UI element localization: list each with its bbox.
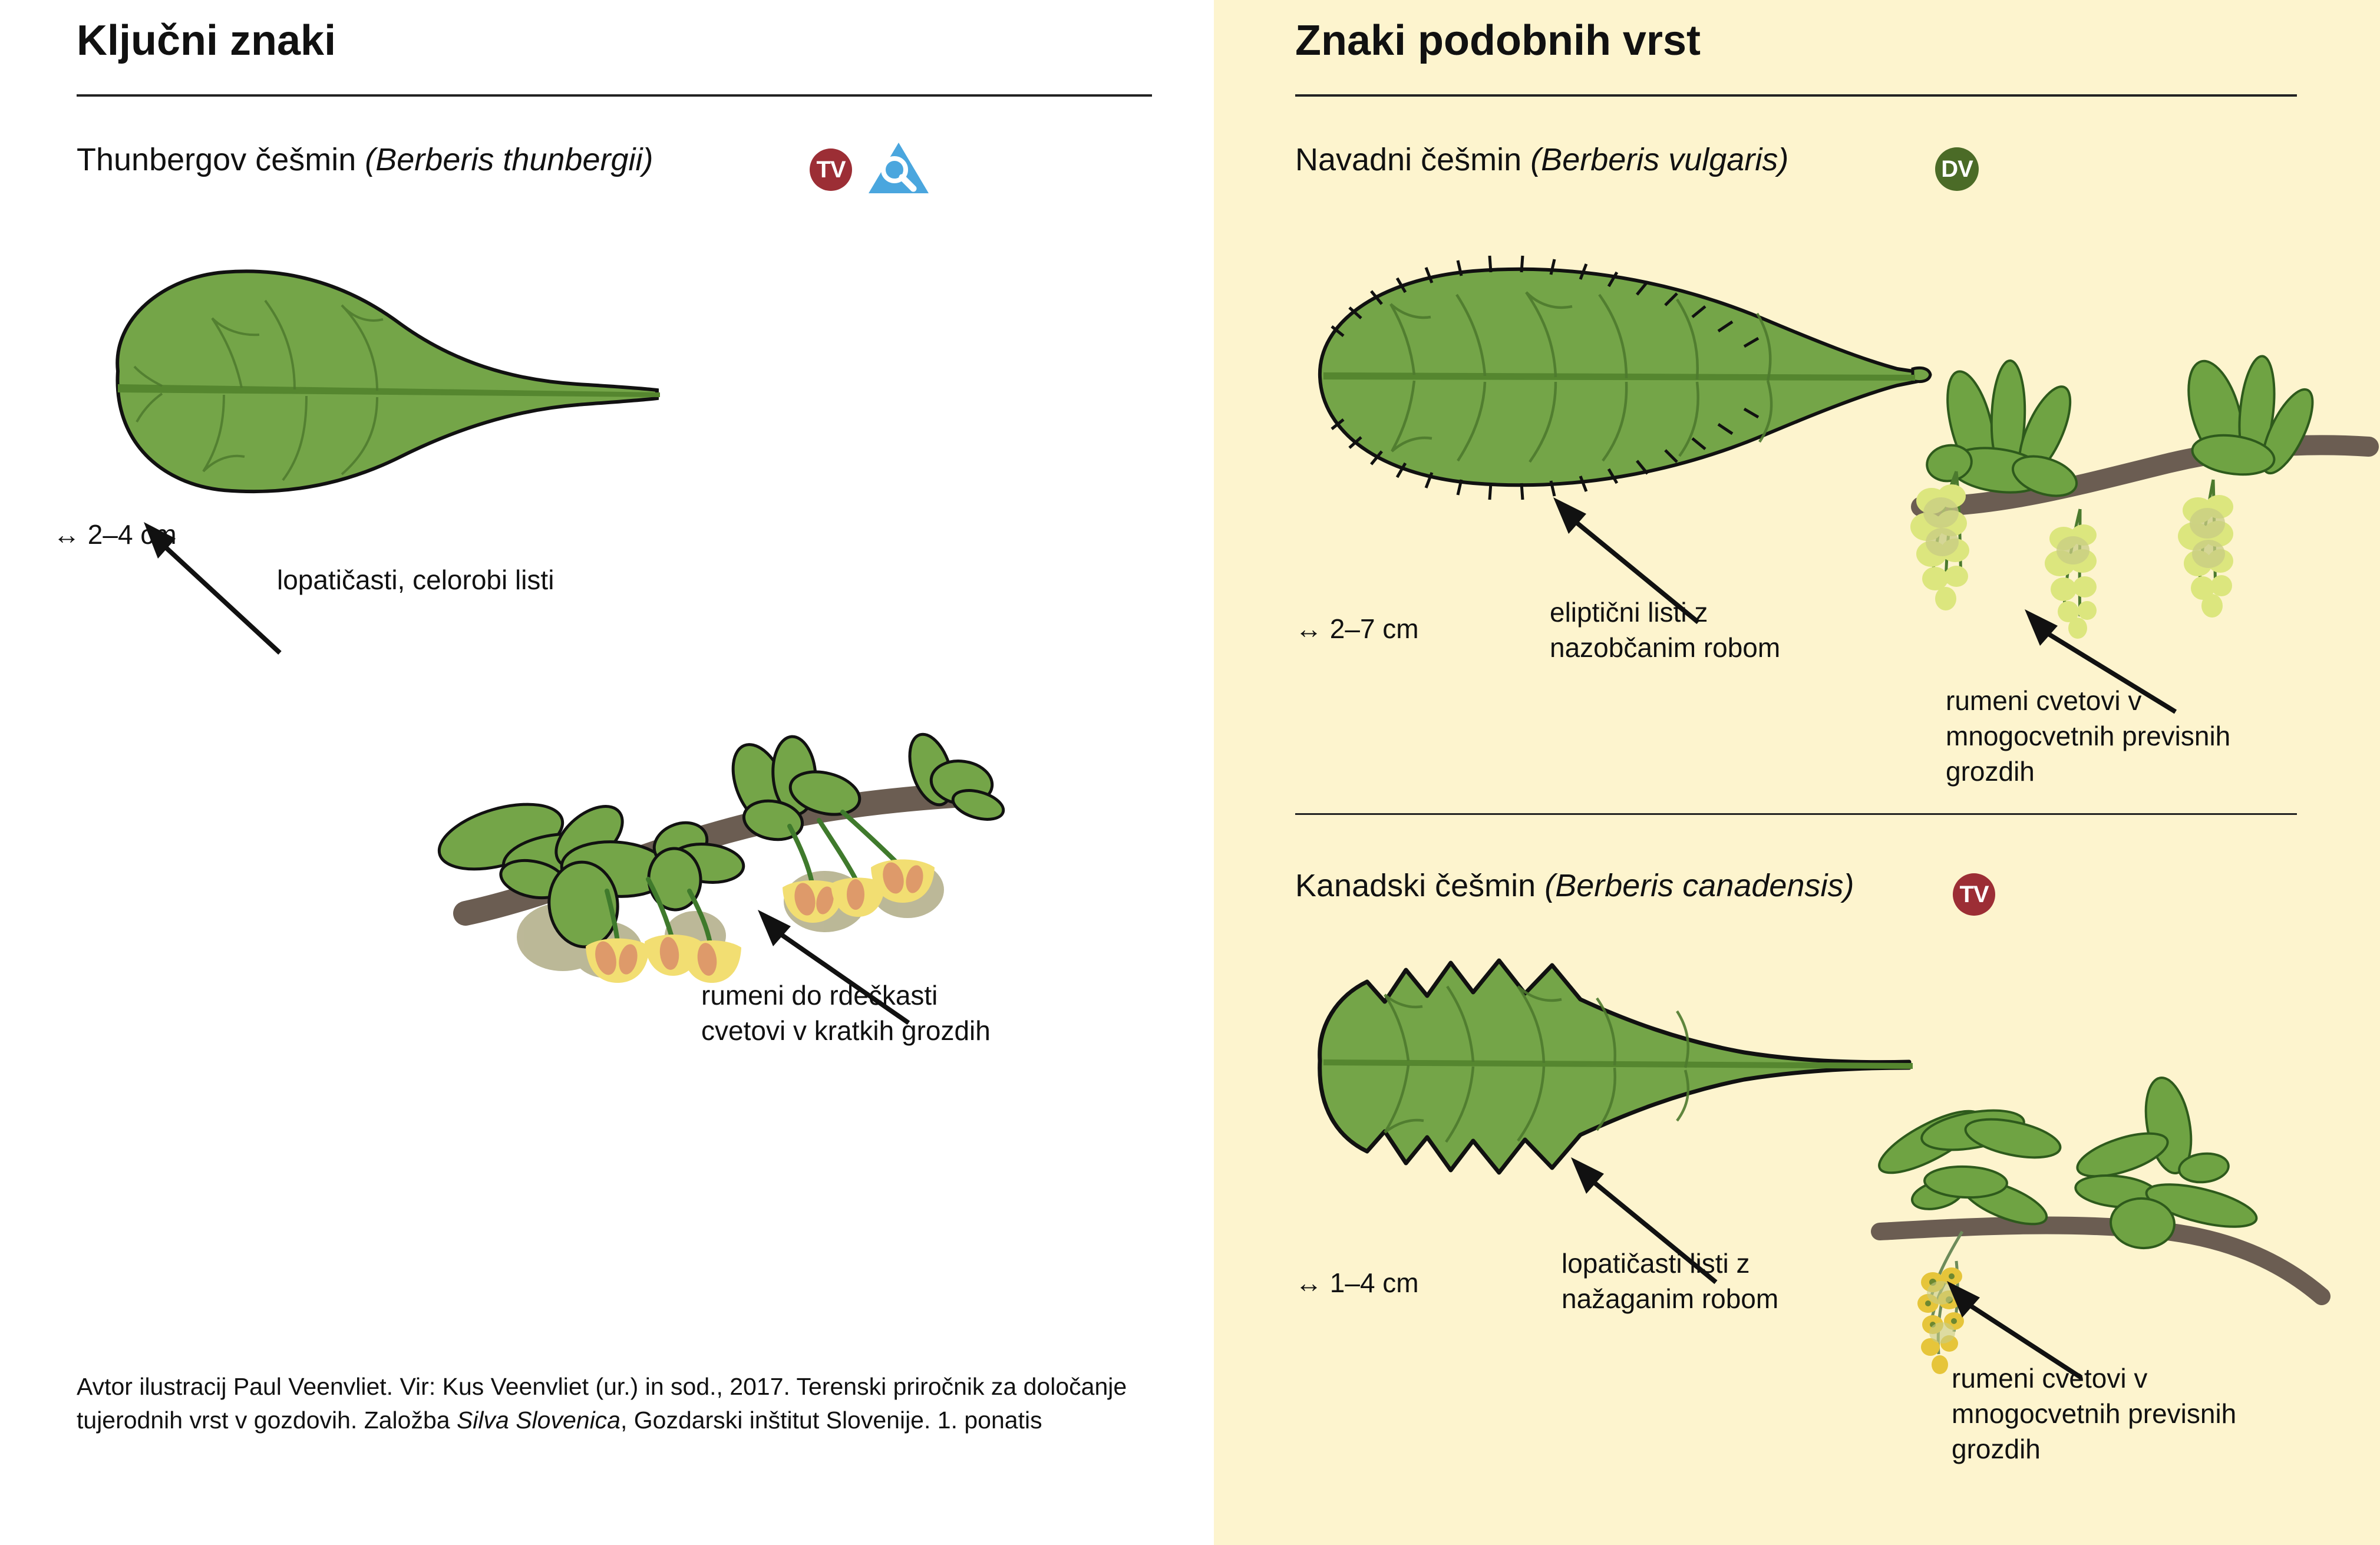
branch-illustration-thunbergii (412, 660, 1014, 990)
page-title: Ključni znaki (77, 16, 336, 65)
tv-badge[interactable]: TV (810, 148, 852, 191)
species-scientific-name: (Berberis thunbergii) (365, 142, 653, 177)
similar-species-underline (1295, 94, 2297, 97)
credit-text: Avtor ilustracij Paul Veenvliet. Vir: Ku… (77, 1370, 1137, 1437)
leaf-illustration-canadensis (1296, 937, 1921, 1184)
leaf-annotation-label-canadensis: lopatičasti listi z nažaganim robom (1562, 1246, 1778, 1317)
leaf-illustration-thunbergii (47, 253, 672, 507)
species-heading-canadensis: Kanadski češmin (Berberis canadensis) (1295, 867, 1854, 904)
species-heading-vulgaris: Navadni češmin (Berberis vulgaris) (1295, 141, 1788, 178)
leaf-annotation-label-vulgaris: eliptični listi z nazobčanim robom (1550, 595, 1780, 666)
leaf-illustration-vulgaris (1296, 253, 1933, 501)
species-scientific-name: (Berberis canadensis) (1544, 868, 1854, 903)
credit-part-2: , Gozdarski inštitut Slovenije. 1. ponat… (620, 1407, 1042, 1434)
species-common-name: Thunbergov češmin (77, 142, 356, 177)
credit-publisher: Silva Slovenica (457, 1407, 620, 1434)
branch-annotation-label-vulgaris: rumeni cvetovi v mnogocvetnih previsnih … (1946, 684, 2230, 789)
tv-badge[interactable]: TV (1953, 873, 1995, 916)
key-characters-panel: Ključni znaki Thunbergov češmin (Berberi… (0, 0, 1214, 1545)
species-scientific-name: (Berberis vulgaris) (1530, 142, 1788, 177)
leaf-annotation-label: lopatičasti, celorobi listi (277, 563, 554, 598)
branch-annotation-label-canadensis: rumeni cvetovi v mnogocvetnih previsnih … (1952, 1361, 2236, 1467)
similar-species-title: Znaki podobnih vrst (1295, 16, 1701, 65)
dv-badge[interactable]: DV (1935, 147, 1979, 191)
monitoring-badge[interactable] (866, 141, 931, 196)
leaf-dimension-label-vulgaris: ↔ 2–7 cm (1295, 613, 1419, 645)
species-heading-thunbergii: Thunbergov češmin (Berberis thunbergii) (77, 141, 653, 178)
section-divider (1295, 813, 2297, 815)
branch-illustration-canadensis (1850, 1037, 2380, 1414)
title-underline (77, 94, 1152, 97)
similar-species-panel: Znaki podobnih vrst Navadni češmin (Berb… (1214, 0, 2380, 1545)
species-common-name: Kanadski češmin (1295, 868, 1536, 903)
leaf-dimension-label-canadensis: ↔ 1–4 cm (1295, 1267, 1419, 1299)
branch-annotation-label: rumeni do rdečkasti cvetovi v kratkih gr… (701, 978, 991, 1049)
leaf-dimension-label: ↔ 2–4 cm (53, 519, 177, 550)
species-common-name: Navadni češmin (1295, 142, 1521, 177)
